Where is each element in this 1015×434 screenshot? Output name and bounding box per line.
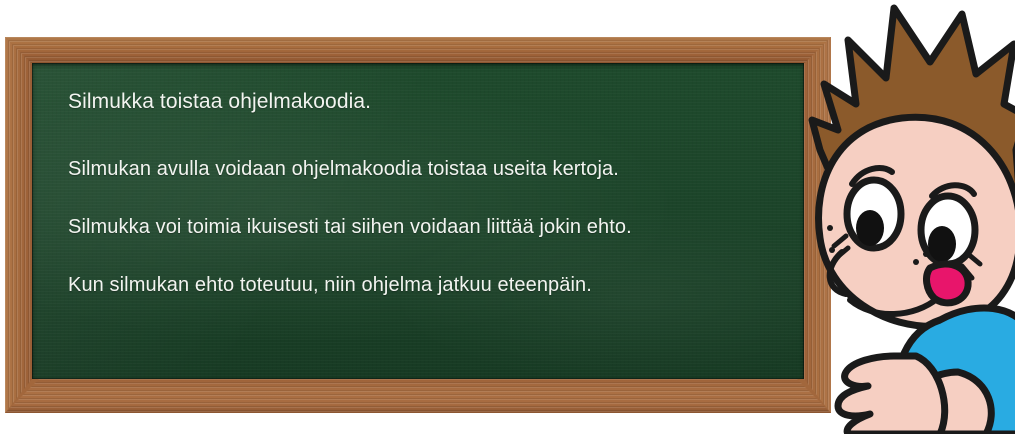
tongue-shape [927, 264, 969, 303]
chalkboard-text-block: Silmukka toistaa ohjelmakoodia. Silmukan… [68, 89, 794, 298]
frame-left-rail [5, 37, 32, 413]
chalk-text-line-3: Silmukka voi toimia ikuisesti tai siihen… [68, 215, 794, 240]
chalkboard-slate: Silmukka toistaa ohjelmakoodia. Silmukan… [32, 63, 804, 379]
chalkboard: Silmukka toistaa ohjelmakoodia. Silmukan… [5, 37, 831, 413]
frame-bottom-rail [5, 379, 831, 413]
cartoon-boy [790, 0, 1015, 434]
eye-right-pupil [928, 226, 956, 262]
chalk-text-line-2: Silmukan avulla voidaan ohjelmakoodia to… [68, 157, 794, 182]
chalk-text-line-4: Kun silmukan ehto toteutuu, niin ohjelma… [68, 273, 794, 298]
slide-canvas: Silmukka toistaa ohjelmakoodia. Silmukan… [0, 0, 1015, 434]
frame-top-rail [5, 37, 831, 63]
eye-left-pupil [856, 210, 884, 246]
chalk-text-line-1: Silmukka toistaa ohjelmakoodia. [68, 89, 794, 115]
hand-shape [838, 356, 945, 434]
